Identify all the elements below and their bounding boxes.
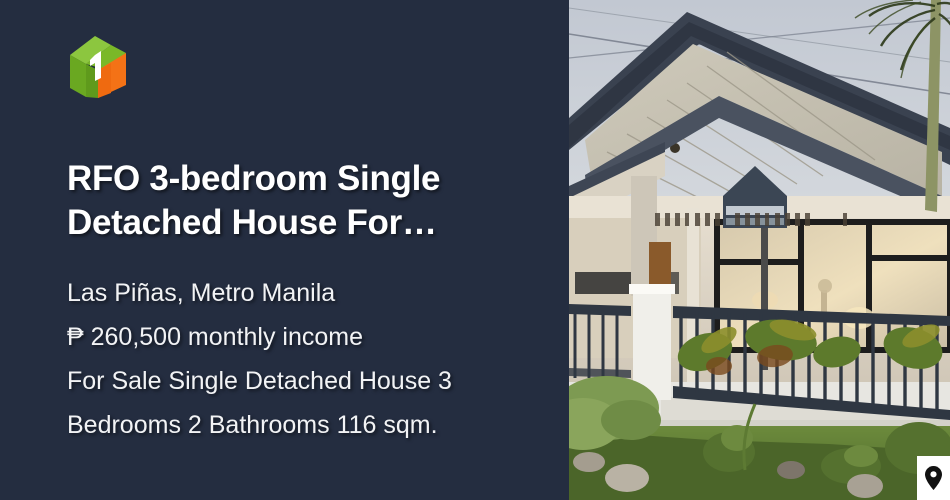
property-listing-card[interactable]: RFO 3-bedroom Single Detached House For…… bbox=[0, 0, 950, 500]
map-pin-icon bbox=[925, 466, 942, 490]
map-pin-badge[interactable] bbox=[917, 456, 950, 500]
listing-description: For Sale Single Detached House 3 Bedroom… bbox=[67, 359, 529, 447]
listing-details: Las Piñas, Metro Manila ₱ 260,500 monthl… bbox=[67, 271, 529, 447]
listing-location: Las Piñas, Metro Manila bbox=[67, 271, 529, 315]
listing-info-panel: RFO 3-bedroom Single Detached House For…… bbox=[0, 0, 569, 500]
listing-photo[interactable] bbox=[569, 0, 950, 500]
listing-title[interactable]: RFO 3-bedroom Single Detached House For… bbox=[67, 157, 507, 245]
house-logo-icon[interactable] bbox=[67, 33, 129, 101]
listing-price: ₱ 260,500 monthly income bbox=[67, 315, 529, 359]
